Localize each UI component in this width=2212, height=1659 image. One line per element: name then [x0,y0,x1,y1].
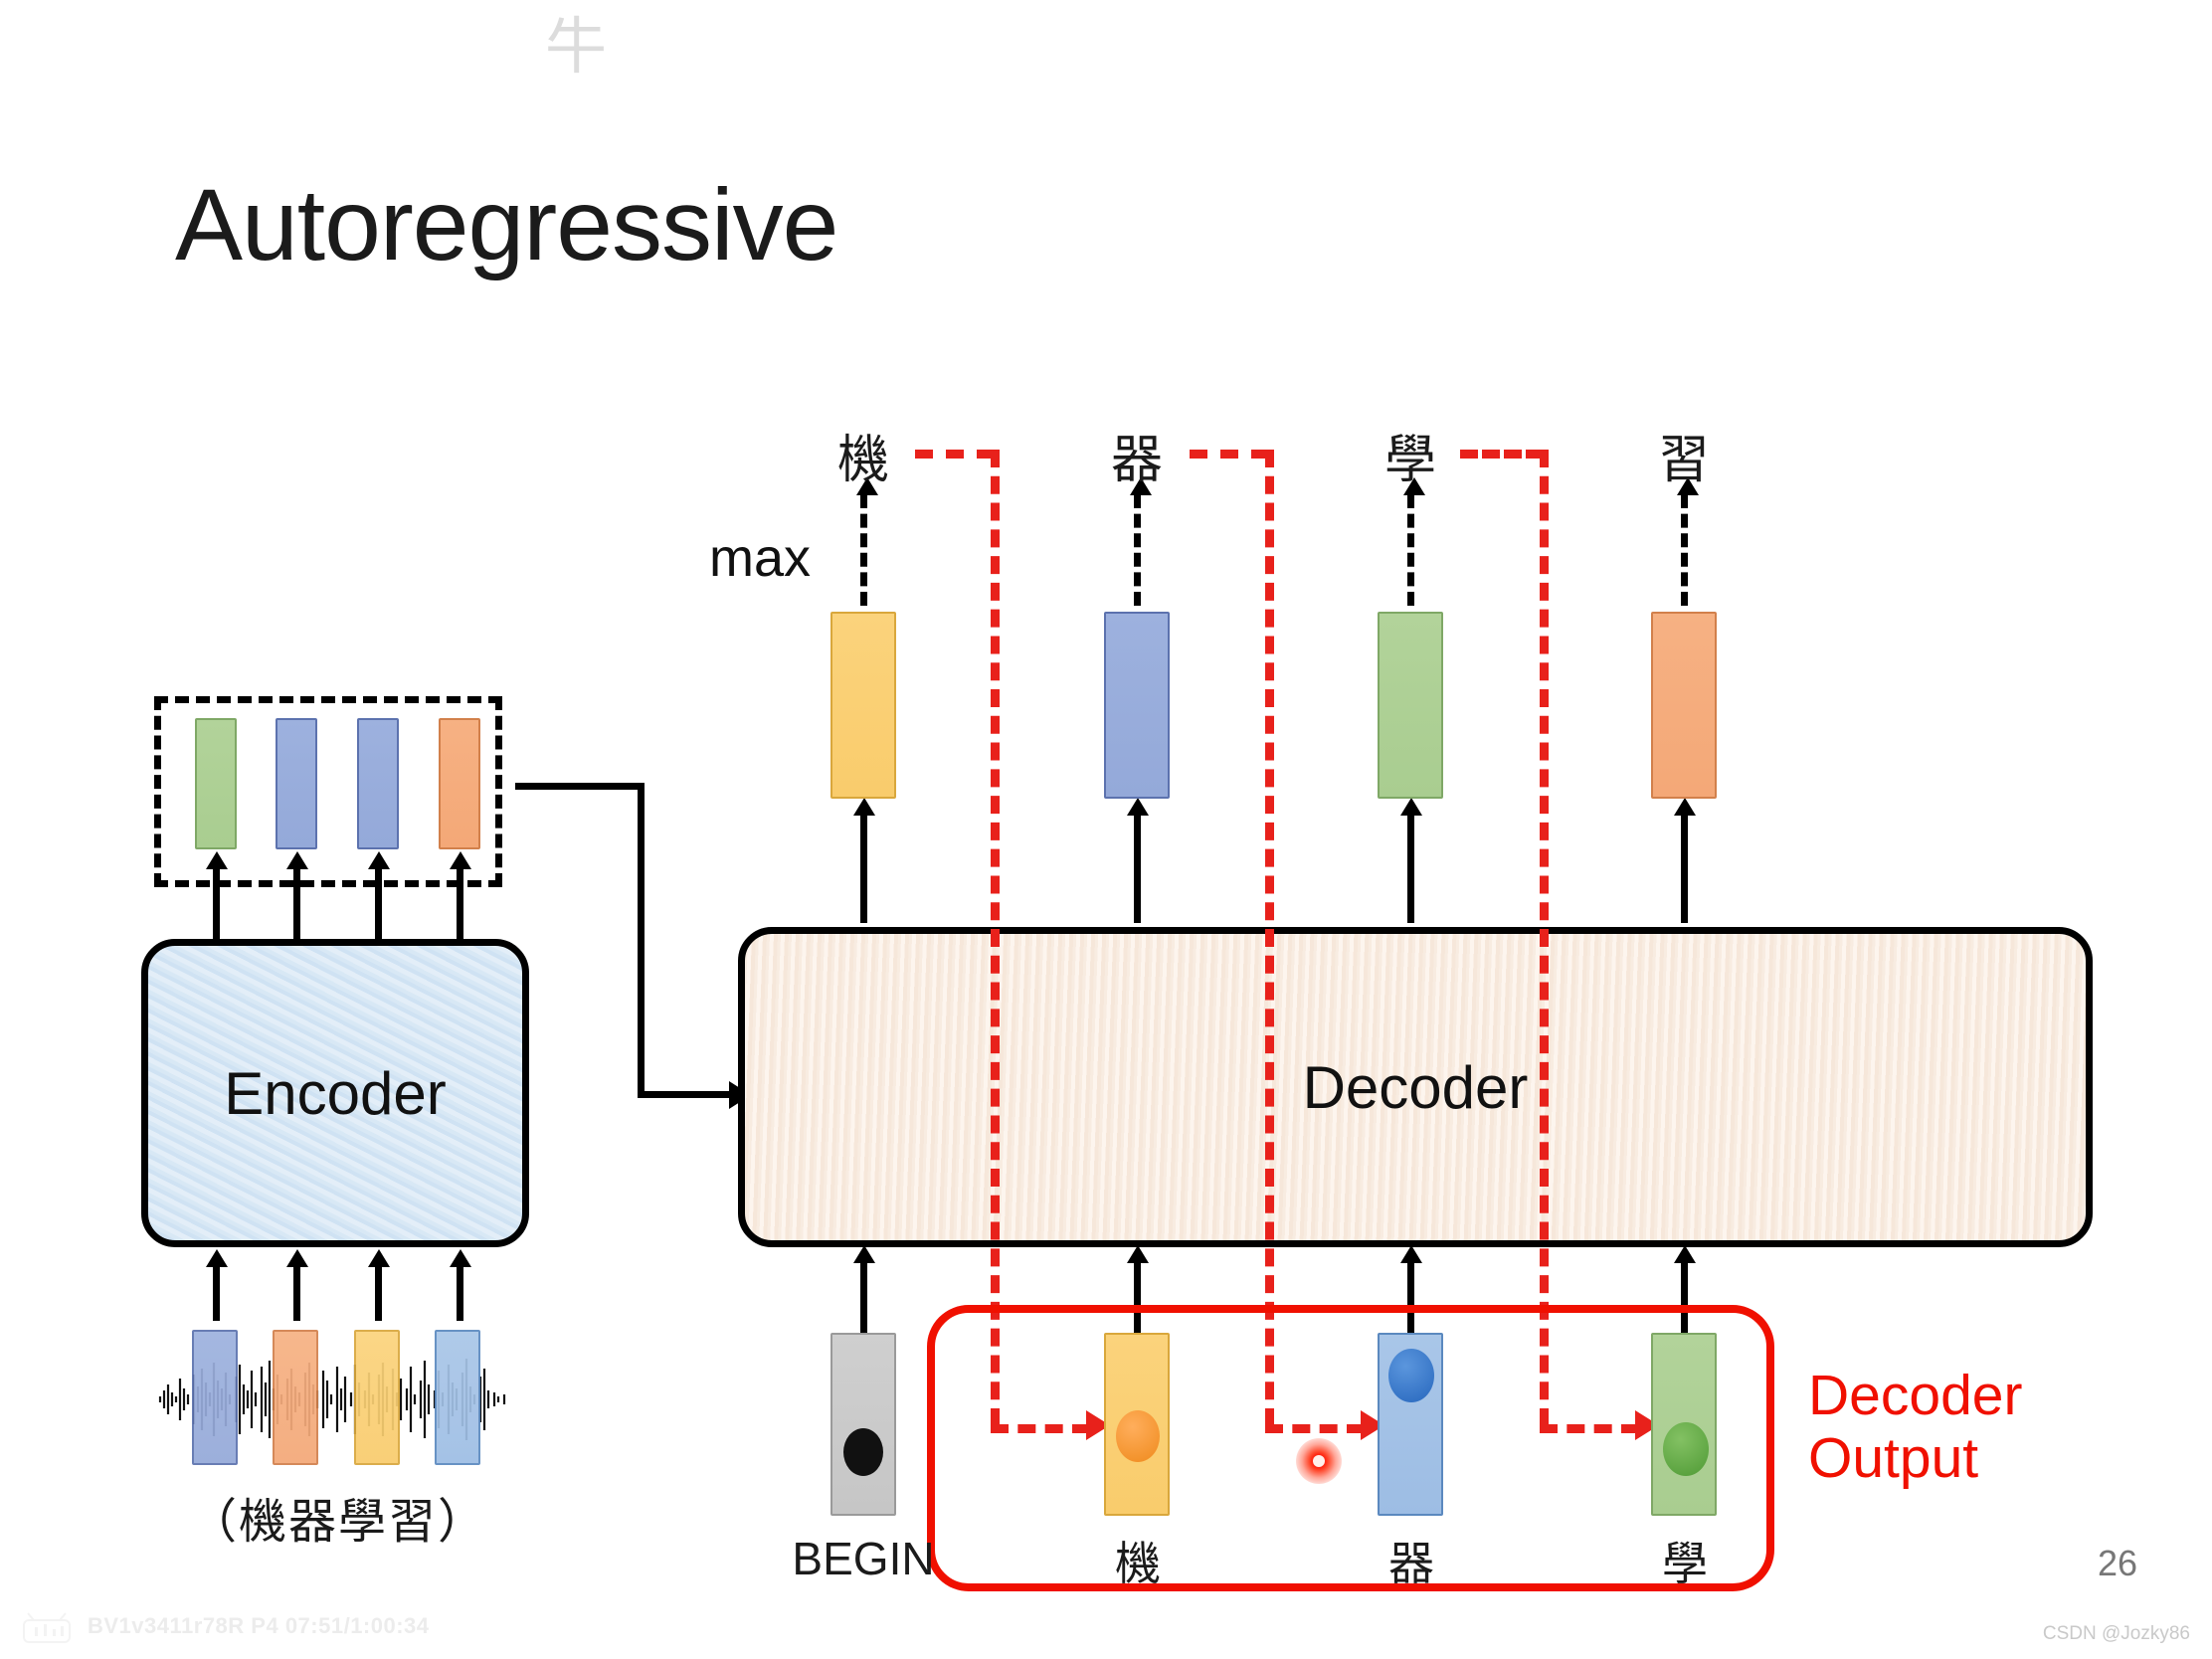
encoder-decoder-connector-v [638,783,645,1098]
speech-segment-bar [354,1330,400,1465]
feedback-route-2-down [1265,450,1274,1426]
page-number: 26 [2098,1543,2137,1584]
output-token: 器 [1094,418,1180,492]
feedback-route-3-down [1540,450,1549,1426]
decoder-input-arrow [860,1261,867,1335]
encoder-input-caption: （機器學習） [189,1482,487,1552]
encoder-hidden-state-bar [276,718,317,849]
begin-token-dot [843,1428,883,1476]
laser-pointer-dot [1296,1438,1342,1484]
decoder-label: Decoder [1303,1053,1529,1122]
decoder-output-label: Decoder Output [1808,1365,2022,1489]
decoder-input-label: 學 [1641,1528,1729,1593]
feedback-route-2-top [1190,450,1269,459]
encoder-decoder-connector-h2 [638,1091,733,1098]
encoder-output-arrow [213,867,220,939]
decoder-output-label-line1: Decoder [1808,1365,2022,1427]
decoder-input-token-dot [1388,1349,1434,1402]
encoder-hidden-state-bar [195,718,237,849]
argmax-arrow [1134,494,1141,606]
decoder-output-arrow [1134,814,1141,923]
decoder-output-arrow [1407,814,1414,923]
decoder-input-label: 器 [1368,1528,1455,1593]
encoder-output-arrow [457,867,463,939]
argmax-arrow [1407,494,1414,606]
video-source-watermark: BV1v3411r78R P4 07:51/1:00:34 [88,1613,430,1639]
argmax-arrow [1681,494,1688,606]
speech-segment-bar [435,1330,480,1465]
feedback-route-1-down [991,450,1000,1426]
encoder-input-arrow [213,1265,220,1321]
encoder-hidden-state-bar [357,718,399,849]
encoder-hidden-state-bar [439,718,480,849]
output-token: 機 [821,418,906,492]
encoder-input-arrow [457,1265,463,1321]
output-distribution-vector [830,612,896,799]
argmax-arrow [860,494,867,606]
decoder-input-label: BEGIN [786,1532,941,1585]
decoder-input-token-dot [1663,1422,1709,1476]
decoder-output-label-line2: Output [1808,1427,2022,1490]
decoder-input-bar-begin [830,1333,896,1516]
encoder-block: Encoder [141,939,529,1247]
bilibili-logo-icon [16,1611,78,1645]
page-title: Autoregressive [175,174,837,276]
decoder-input-label: 機 [1094,1528,1182,1593]
encoder-input-arrow [293,1265,300,1321]
decoder-block: Decoder [738,927,2093,1247]
speech-segment-bar [192,1330,238,1465]
encoder-output-arrow [293,867,300,939]
speech-segment-bar [273,1330,318,1465]
output-distribution-vector [1104,612,1170,799]
encoder-label: Encoder [224,1059,446,1128]
encoder-decoder-connector-h1 [515,783,645,790]
top-watermark-glyph: 牛 [545,0,607,86]
output-token: 學 [1368,418,1453,492]
output-distribution-vector [1651,612,1717,799]
decoder-output-arrow [860,814,867,923]
decoder-input-token-dot [1116,1410,1160,1462]
output-token: 習 [1641,418,1727,492]
encoder-input-arrow [375,1265,382,1321]
decoder-output-arrow [1681,814,1688,923]
max-label: max [709,527,811,589]
feedback-route-1-top [915,450,995,459]
feedback-route-3-top [1460,450,1544,459]
encoder-output-arrow [375,867,382,939]
csdn-watermark: CSDN @Jozky86 [2043,1623,2190,1645]
output-distribution-vector [1378,612,1443,799]
